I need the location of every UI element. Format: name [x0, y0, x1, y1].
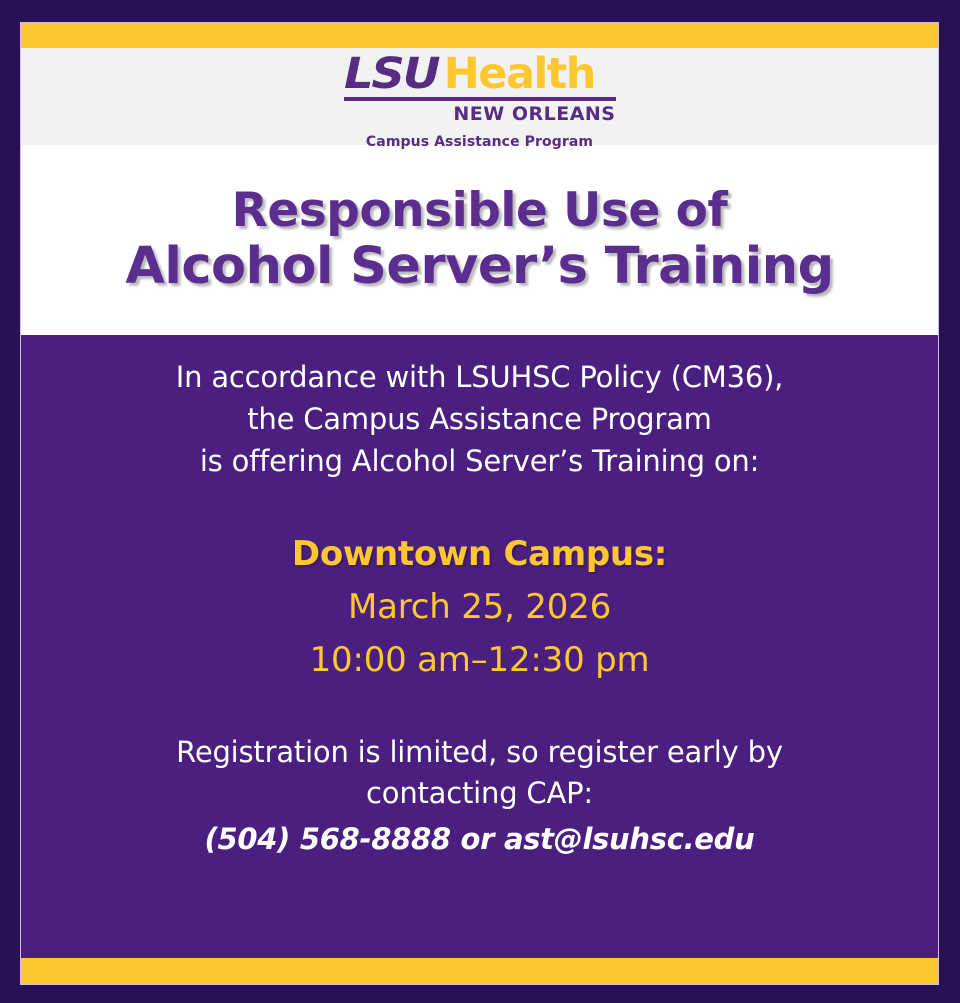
event-time: 10:00 am–12:30 pm — [21, 640, 938, 680]
event-campus-label: Downtown Campus: — [21, 534, 938, 574]
flyer-poster: LSU Health NEW ORLEANS Campus Assistance… — [0, 0, 960, 1003]
registration-line-2: contacting CAP: — [21, 773, 938, 814]
contact-line[interactable]: (504) 568-8888 or ast@lsuhsc.edu — [21, 819, 938, 860]
health-wordmark: Health — [444, 53, 595, 96]
intro-line-1: In accordance with LSUHSC Policy (CM36), — [21, 357, 938, 399]
lsu-wordmark: LSU — [344, 53, 438, 96]
event-date: March 25, 2026 — [21, 587, 938, 627]
title-line-2: Alcohol Server’s Training — [125, 238, 833, 295]
registration-line-1: Registration is limited, so register ear… — [21, 732, 938, 773]
logo-tagline: Campus Assistance Program — [366, 134, 593, 150]
intro-paragraph: In accordance with LSUHSC Policy (CM36),… — [21, 357, 938, 482]
intro-line-3: is offering Alcohol Server’s Training on… — [21, 441, 938, 483]
title-band: Responsible Use of Alcohol Server’s Trai… — [21, 145, 938, 335]
registration-info: Registration is limited, so register ear… — [21, 732, 938, 860]
lsu-health-logo: LSU Health NEW ORLEANS — [344, 53, 616, 125]
bottom-gold-bar — [21, 958, 938, 984]
flyer-inner-panel: LSU Health NEW ORLEANS Campus Assistance… — [20, 22, 939, 985]
logo-band: LSU Health NEW ORLEANS Campus Assistance… — [21, 48, 938, 145]
top-gold-bar — [21, 23, 938, 48]
body-area: In accordance with LSUHSC Policy (CM36),… — [21, 335, 938, 958]
intro-line-2: the Campus Assistance Program — [21, 399, 938, 441]
event-details: Downtown Campus: March 25, 2026 10:00 am… — [21, 534, 938, 680]
logo-campus-line: NEW ORLEANS — [344, 103, 616, 125]
title-line-1: Responsible Use of — [232, 185, 728, 238]
logo-wordmark-row: LSU Health — [344, 53, 616, 96]
